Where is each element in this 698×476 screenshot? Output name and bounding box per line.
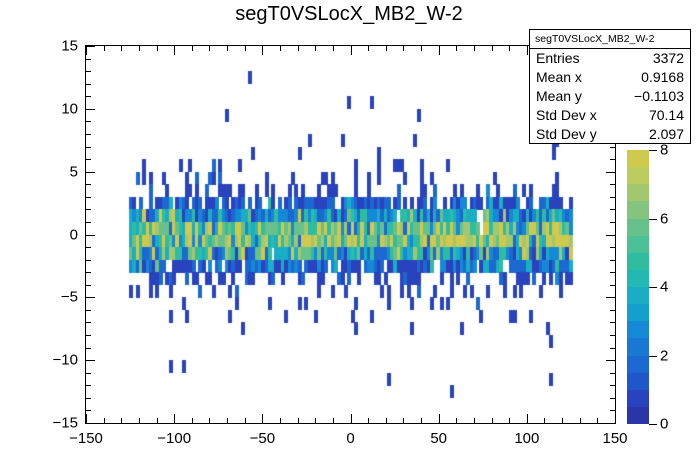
palette-swatch [627, 236, 649, 253]
palette-swatch [627, 270, 649, 287]
y-minor-tick [86, 121, 91, 122]
y-major-tick [86, 297, 95, 298]
x-minor-tick [245, 418, 246, 423]
x-minor-tick-top [245, 46, 246, 51]
x-major-tick-top [351, 46, 352, 55]
palette-tick-label: 2 [660, 347, 668, 364]
x-major-tick [439, 414, 440, 423]
stats-row: Entries3372 [530, 49, 690, 68]
x-minor-tick [121, 418, 122, 423]
y-minor-tick-right [610, 410, 615, 411]
y-tick-label: −5 [61, 289, 78, 306]
y-minor-tick [86, 348, 91, 349]
y-tick-label: 15 [61, 38, 78, 55]
stats-box-rows: Entries3372Mean x0.9168Mean y−0.1103Std … [530, 49, 690, 144]
y-minor-tick [86, 84, 91, 85]
palette-swatch [627, 321, 649, 338]
y-tick-label: −15 [53, 415, 78, 432]
x-major-tick-top [262, 46, 263, 55]
y-minor-tick [86, 260, 91, 261]
x-major-tick [527, 414, 528, 423]
x-minor-tick-top [492, 46, 493, 51]
y-minor-tick [86, 184, 91, 185]
y-major-tick [86, 235, 95, 236]
palette-swatch [627, 167, 649, 184]
stats-value: 3372 [653, 49, 684, 68]
y-minor-tick [86, 398, 91, 399]
y-minor-tick [86, 310, 91, 311]
palette-tick-label: 0 [660, 416, 668, 433]
y-minor-tick [86, 209, 91, 210]
palette-swatch [627, 407, 649, 424]
palette-swatch [627, 373, 649, 390]
x-major-tick [615, 414, 616, 423]
x-minor-tick [298, 418, 299, 423]
palette-swatch [627, 201, 649, 218]
y-major-tick [86, 360, 95, 361]
stats-box: segT0VSLocX_MB2_W-2 Entries3372Mean x0.9… [529, 29, 691, 144]
stats-key: Std Dev x [536, 106, 597, 125]
y-minor-tick [86, 373, 91, 374]
y-major-tick-right [606, 297, 615, 298]
palette-swatch [627, 184, 649, 201]
x-major-tick [174, 414, 175, 423]
y-minor-tick [86, 147, 91, 148]
stats-value: −0.1103 [634, 87, 684, 106]
y-major-tick [86, 172, 95, 173]
color-palette-axis: 02468 [649, 150, 689, 424]
palette-swatch [627, 219, 649, 236]
y-major-tick [86, 423, 95, 424]
x-minor-tick-top [192, 46, 193, 51]
palette-tick [649, 287, 657, 288]
y-major-tick [86, 109, 95, 110]
x-minor-tick [597, 418, 598, 423]
x-minor-tick-top [280, 46, 281, 51]
y-minor-tick-right [610, 159, 615, 160]
y-minor-tick [86, 247, 91, 248]
palette-swatch [627, 150, 649, 167]
y-minor-tick-right [610, 335, 615, 336]
palette-tick-label: 8 [660, 142, 668, 159]
y-minor-tick-right [610, 247, 615, 248]
y-minor-tick-right [610, 348, 615, 349]
x-minor-tick-top [421, 46, 422, 51]
y-major-tick-right [606, 423, 615, 424]
x-major-tick-top [174, 46, 175, 55]
palette-swatch [627, 287, 649, 304]
x-major-tick-top [527, 46, 528, 55]
y-minor-tick-right [610, 385, 615, 386]
plot-canvas: segT0VSLocX_MB2_W-2 −15−10−5051015 −150−… [0, 0, 698, 476]
x-minor-tick-top [157, 46, 158, 51]
x-minor-tick [456, 418, 457, 423]
color-palette-bar [627, 150, 649, 424]
palette-tick [649, 219, 657, 220]
x-tick-label: −50 [250, 430, 275, 447]
x-minor-tick-top [121, 46, 122, 51]
stats-row: Std Dev x70.14 [530, 106, 690, 125]
y-minor-tick [86, 222, 91, 223]
y-minor-tick-right [610, 147, 615, 148]
y-minor-tick [86, 96, 91, 97]
x-minor-tick [509, 418, 510, 423]
x-major-tick [262, 414, 263, 423]
y-minor-tick-right [610, 222, 615, 223]
x-minor-tick [580, 418, 581, 423]
y-minor-tick-right [610, 373, 615, 374]
y-minor-tick-right [610, 260, 615, 261]
x-minor-tick [209, 418, 210, 423]
x-minor-tick [403, 418, 404, 423]
y-tick-label: 5 [70, 163, 78, 180]
x-major-tick-top [439, 46, 440, 55]
x-minor-tick-top [104, 46, 105, 51]
stats-row: Mean y−0.1103 [530, 87, 690, 106]
palette-tick [649, 424, 657, 425]
x-tick-label: 0 [346, 430, 354, 447]
x-minor-tick-top [139, 46, 140, 51]
y-major-tick-right [606, 235, 615, 236]
palette-tick [649, 150, 657, 151]
x-minor-tick-top [509, 46, 510, 51]
y-minor-tick [86, 134, 91, 135]
y-minor-tick [86, 335, 91, 336]
x-minor-tick-top [386, 46, 387, 51]
y-tick-label: 0 [70, 226, 78, 243]
y-minor-tick [86, 285, 91, 286]
y-minor-tick [86, 59, 91, 60]
x-minor-tick-top [474, 46, 475, 51]
y-minor-tick [86, 71, 91, 72]
x-minor-tick [368, 418, 369, 423]
x-minor-tick-top [333, 46, 334, 51]
palette-swatch [627, 390, 649, 407]
y-minor-tick [86, 159, 91, 160]
y-minor-tick-right [610, 398, 615, 399]
x-minor-tick [104, 418, 105, 423]
x-tick-label: −150 [69, 430, 103, 447]
x-minor-tick-top [315, 46, 316, 51]
palette-swatch [627, 338, 649, 355]
stats-key: Mean y [536, 87, 582, 106]
palette-tick [649, 356, 657, 357]
x-tick-label: −100 [157, 430, 191, 447]
y-tick-label: 10 [61, 100, 78, 117]
y-minor-tick [86, 272, 91, 273]
stats-value: 0.9168 [641, 68, 684, 87]
x-minor-tick [333, 418, 334, 423]
x-minor-tick [192, 418, 193, 423]
y-minor-tick-right [610, 272, 615, 273]
x-minor-tick [315, 418, 316, 423]
x-minor-tick [544, 418, 545, 423]
x-tick-label: 100 [514, 430, 539, 447]
stats-box-title: segT0VSLocX_MB2_W-2 [530, 30, 690, 49]
x-tick-label: 50 [430, 430, 447, 447]
x-minor-tick-top [209, 46, 210, 51]
y-major-tick-right [606, 172, 615, 173]
stats-row: Mean x0.9168 [530, 68, 690, 87]
palette-swatch [627, 304, 649, 321]
x-major-tick [86, 414, 87, 423]
x-minor-tick [227, 418, 228, 423]
x-minor-tick-top [403, 46, 404, 51]
x-minor-tick [492, 418, 493, 423]
x-minor-tick [386, 418, 387, 423]
y-tick-label: −10 [53, 352, 78, 369]
x-tick-label: 150 [602, 430, 627, 447]
x-minor-tick [421, 418, 422, 423]
y-major-tick [86, 46, 95, 47]
y-minor-tick [86, 410, 91, 411]
x-minor-tick-top [456, 46, 457, 51]
x-minor-tick-top [227, 46, 228, 51]
page-title: segT0VSLocX_MB2_W-2 [0, 3, 698, 26]
x-minor-tick-top [368, 46, 369, 51]
palette-tick-label: 6 [660, 210, 668, 227]
x-minor-tick [280, 418, 281, 423]
y-minor-tick-right [610, 209, 615, 210]
palette-tick-label: 4 [660, 279, 668, 296]
y-minor-tick [86, 322, 91, 323]
x-minor-tick [474, 418, 475, 423]
x-axis-labels: −150−100−50050100150 [0, 430, 698, 454]
y-major-tick-right [606, 360, 615, 361]
x-minor-tick [157, 418, 158, 423]
y-minor-tick-right [610, 184, 615, 185]
y-minor-tick-right [610, 322, 615, 323]
y-minor-tick [86, 385, 91, 386]
stats-value: 70.14 [649, 106, 684, 125]
y-minor-tick-right [610, 285, 615, 286]
x-minor-tick-top [298, 46, 299, 51]
stats-key: Std Dev y [536, 125, 597, 144]
stats-key: Entries [536, 49, 580, 68]
x-minor-tick [562, 418, 563, 423]
stats-key: Mean x [536, 68, 582, 87]
x-major-tick-top [86, 46, 87, 55]
palette-swatch [627, 356, 649, 373]
y-axis-labels: −15−10−5051015 [10, 0, 78, 476]
y-minor-tick-right [610, 310, 615, 311]
x-minor-tick [139, 418, 140, 423]
palette-swatch [627, 253, 649, 270]
x-major-tick [351, 414, 352, 423]
y-minor-tick-right [610, 197, 615, 198]
y-minor-tick [86, 197, 91, 198]
